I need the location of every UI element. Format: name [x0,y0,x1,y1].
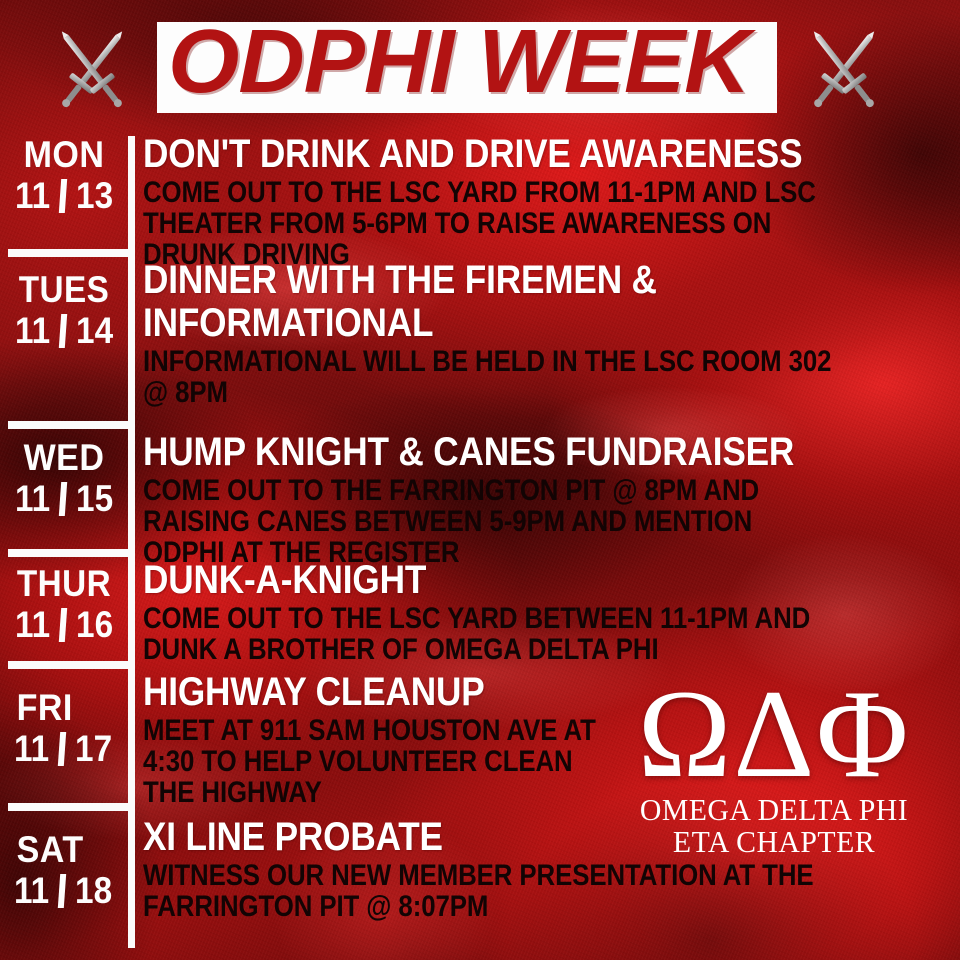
event-description: MEET AT 911 SAM HOUSTON AVE AT 4:30 TO H… [143,715,625,808]
day-cell-tues: TUES 11 14 [0,271,128,351]
page-title: ODPHI WEEK [168,14,790,110]
logo-chapter-name: ETA CHAPTER [607,826,941,858]
date-day: 18 [75,871,112,911]
row-divider-4 [8,661,128,669]
date-month: 11 [15,605,50,645]
greek-letters-omega-delta-phi: ΩΔΦ [600,676,948,794]
logo-organization-name: OMEGA DELTA PHI [607,794,941,826]
row-divider-5 [8,803,128,811]
date-separator [59,608,67,642]
day-date-mon: 11 13 [0,176,128,216]
date-month: 11 [15,479,50,519]
day-label-thur: THUR [6,565,121,603]
date-separator [58,732,66,766]
date-day: 14 [76,311,113,351]
crossed-swords-icon-right [796,24,892,116]
event-content-thur: DUNK-A-KNIGHT COME OUT TO THE LSC YARD B… [143,559,953,665]
day-label-tues: TUES [6,271,121,309]
date-day: 16 [76,605,113,645]
day-cell-sat: SAT 11 18 [0,831,128,911]
day-cell-wed: WED 11 15 [0,439,128,519]
day-date-sat: 11 18 [12,871,128,911]
event-content-mon: DON'T DRINK AND DRIVE AWARENESS COME OUT… [143,133,953,270]
column-divider [128,136,135,948]
event-content-tues: DINNER WITH THE FIREMEN & INFORMATIONAL … [143,259,953,408]
event-description: INFORMATIONAL WILL BE HELD IN THE LSC RO… [143,346,840,408]
event-title: DON'T DRINK AND DRIVE AWARENESS [143,133,856,176]
date-day: 17 [75,729,112,769]
poster-canvas: ODPHI WEEK [0,0,960,960]
day-label-mon: MON [5,136,123,174]
day-cell-thur: THUR 11 16 [0,565,128,645]
event-content-wed: HUMP KNIGHT & CANES FUNDRAISER COME OUT … [143,431,953,568]
date-month: 11 [15,311,50,351]
row-divider-2 [8,421,128,429]
row-divider-1 [8,249,128,257]
date-separator [59,179,67,213]
event-description: COME OUT TO THE LSC YARD BETWEEN 11-1PM … [143,603,840,665]
date-separator [58,874,66,908]
date-month: 11 [15,176,50,216]
fraternity-logo: ΩΔΦ OMEGA DELTA PHI ETA CHAPTER [600,676,948,858]
date-month: 11 [14,871,49,911]
day-label-wed: WED [5,439,123,477]
day-date-tues: 11 14 [0,311,128,351]
date-day: 15 [76,479,113,519]
day-label-sat: SAT [17,831,124,869]
event-title: DINNER WITH THE FIREMEN & INFORMATIONAL [143,259,953,345]
date-separator [59,482,67,516]
event-description: WITNESS OUR NEW MEMBER PRESENTATION AT T… [143,860,840,922]
event-description: COME OUT TO THE FARRINGTON PIT @ 8PM AND… [143,475,840,568]
poster-header: ODPHI WEEK [0,0,960,128]
date-month: 11 [14,729,49,769]
date-separator [59,314,67,348]
day-date-wed: 11 15 [0,479,128,519]
day-label-fri: FRI [17,689,124,727]
event-title: DUNK-A-KNIGHT [143,559,856,602]
crossed-swords-icon-left [44,24,140,116]
row-divider-3 [8,549,128,557]
day-date-thur: 11 16 [0,605,128,645]
date-day: 13 [76,176,113,216]
day-cell-fri: FRI 11 17 [0,689,128,769]
day-cell-mon: MON 11 13 [0,136,128,216]
event-title: HUMP KNIGHT & CANES FUNDRAISER [143,431,856,474]
day-date-fri: 11 17 [12,729,128,769]
event-description: COME OUT TO THE LSC YARD FROM 11-1PM AND… [143,177,840,270]
